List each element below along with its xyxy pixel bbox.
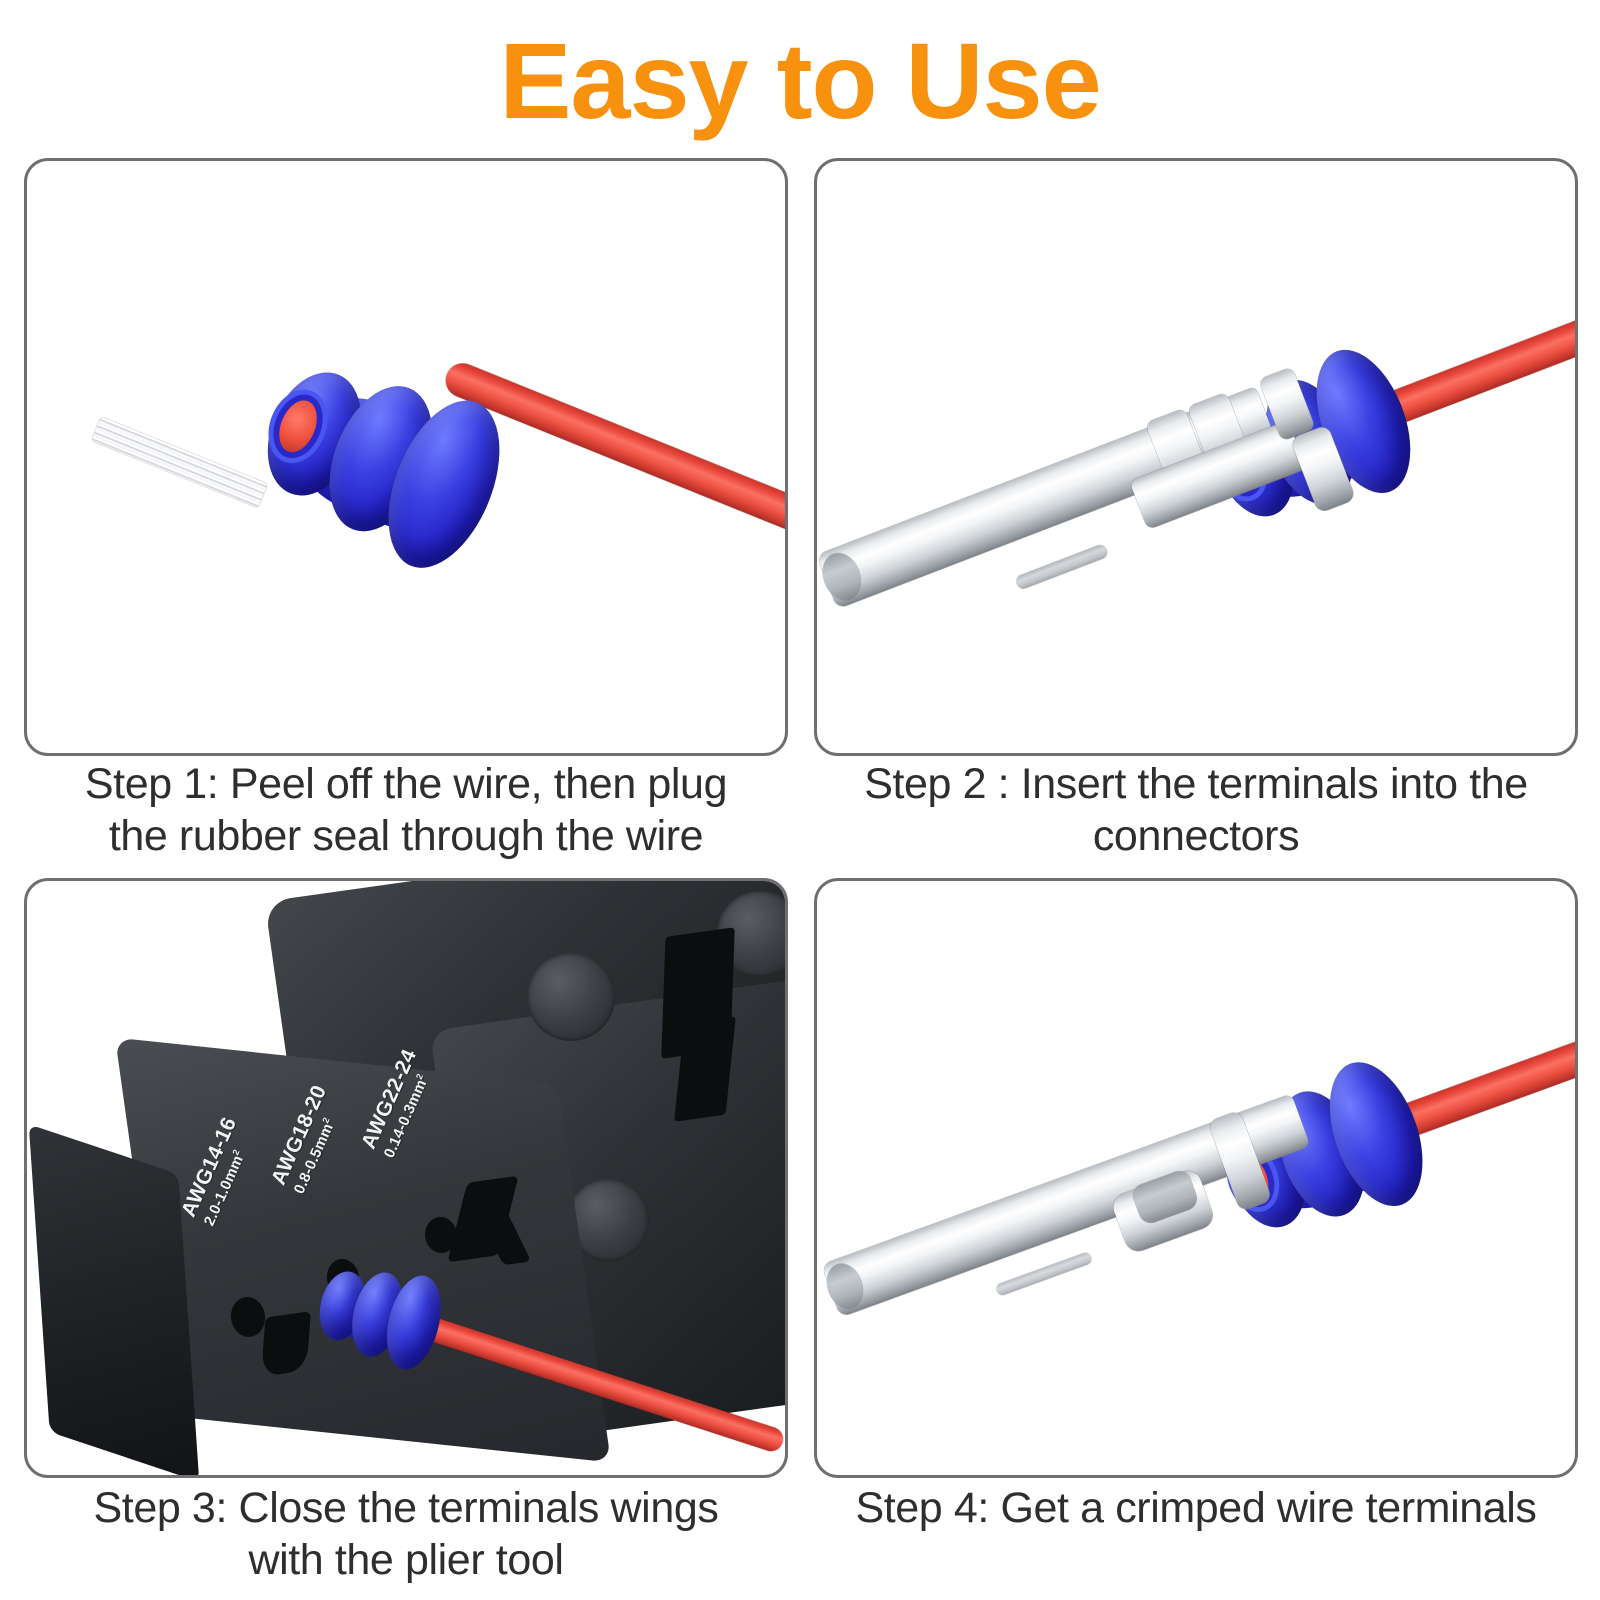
step-3-caption-line-2: with the plier tool (26, 1534, 786, 1586)
step-2-caption: Step 2 : Insert the terminals into the c… (814, 758, 1578, 862)
step-4-panel (814, 878, 1578, 1478)
step-4-caption: Step 4: Get a crimped wire terminals (814, 1482, 1578, 1534)
steps-grid: Step 1: Peel off the wire, then plug the… (0, 158, 1600, 1598)
step-3-caption: Step 3: Close the terminals wings with t… (24, 1482, 788, 1586)
instruction-sheet: Easy to Use (0, 0, 1600, 1600)
step-2-caption-line-2: connectors (816, 810, 1576, 862)
step-2-illustration (817, 161, 1575, 753)
step-3-caption-line-1: Step 3: Close the terminals wings (26, 1482, 786, 1534)
step-4-caption-line-1: Step 4: Get a crimped wire terminals (816, 1482, 1576, 1534)
step-4-cell: Step 4: Get a crimped wire terminals (814, 878, 1578, 1596)
step-1-caption-line-2: the rubber seal through the wire (26, 810, 786, 862)
step-1-illustration (27, 161, 785, 753)
step-3-cell: AWG14-16 2.0-1.0mm2 AWG18-20 0.8-0.5mm2 … (24, 878, 788, 1596)
step-2-caption-line-1: Step 2 : Insert the terminals into the (816, 758, 1576, 810)
page-title: Easy to Use (0, 26, 1600, 136)
step-3-illustration: AWG14-16 2.0-1.0mm2 AWG18-20 0.8-0.5mm2 … (27, 881, 785, 1475)
step-4-illustration (817, 881, 1575, 1475)
step-1-cell: Step 1: Peel off the wire, then plug the… (24, 158, 788, 876)
step-1-panel (24, 158, 788, 756)
step-3-panel: AWG14-16 2.0-1.0mm2 AWG18-20 0.8-0.5mm2 … (24, 878, 788, 1478)
rubber-seal (218, 324, 562, 618)
step-1-caption-line-1: Step 1: Peel off the wire, then plug (26, 758, 786, 810)
step-1-caption: Step 1: Peel off the wire, then plug the… (24, 758, 788, 862)
step-2-cell: Step 2 : Insert the terminals into the c… (814, 158, 1578, 876)
step-2-panel (814, 158, 1578, 756)
